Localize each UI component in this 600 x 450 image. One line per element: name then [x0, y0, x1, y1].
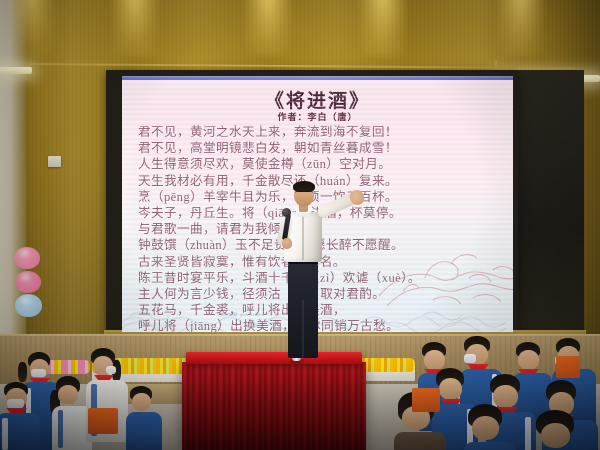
student-head	[132, 393, 151, 411]
student-uniform	[126, 412, 162, 450]
pink-balloon-middle	[15, 271, 41, 293]
speaker-leg-split	[302, 300, 304, 358]
face-mask	[464, 354, 476, 363]
face-mask	[31, 369, 46, 377]
ceiling-downlight-2	[112, 0, 158, 56]
ceiling-downlight-3	[245, 0, 291, 56]
classroom-lecture-photo: 《将进酒》 作者：李白（唐） 君不见，黄河之水天上来，奔流到海不复回！ 君不见，…	[0, 0, 600, 450]
ceiling-downlight-5	[498, 0, 544, 56]
poem-line: 人生得意须尽欢，莫使金樽（zūn）空对月。	[138, 156, 498, 172]
speaker-shirt-placket	[302, 214, 304, 260]
speaker-mic-hand	[282, 238, 292, 249]
student-head	[424, 350, 445, 370]
student-outer-jacket	[394, 432, 446, 450]
slide-author: 作者：李白（唐）	[122, 110, 513, 123]
student-ponytail	[18, 362, 27, 382]
poem-line: 天生我材必有用，千金散尽还（huán）复来。	[138, 173, 498, 189]
student-uniform	[464, 442, 516, 450]
poem-line: 烹（pēng）羊宰牛且为乐，会须一饮三百杯。	[138, 189, 498, 205]
poem-line: 呼儿将（jiāng）出换美酒，与尔同销万古愁。	[138, 318, 498, 332]
student-head	[493, 385, 518, 408]
student-head	[541, 423, 570, 448]
poem-line: 君不见，高堂明镜悲白发，朝如青丝暮成雪！	[138, 140, 498, 156]
poem-line: 主人何为言少钱，径须沽（gū）取对君酌。	[138, 286, 498, 302]
uniform-stripe	[2, 418, 8, 450]
blackboard-right-wing	[514, 70, 584, 332]
student-stool[interactable]	[556, 356, 580, 378]
poem-line: 陈王昔时宴平乐，斗酒十千恣（zì）欢谑（xuè）。	[138, 270, 498, 286]
student-stool[interactable]	[88, 408, 118, 434]
poem-line: 君不见，黄河之水天上来，奔流到海不复回！	[138, 124, 498, 140]
pink-balloon-upper	[14, 247, 40, 269]
face-mask	[106, 366, 116, 374]
glasses-icon	[295, 191, 313, 197]
slide-source-caption: 古诗文网 gushiwen	[218, 312, 265, 318]
screen-top-band	[122, 76, 513, 80]
ceiling-downlight-4	[360, 0, 406, 56]
uniform-stripe	[525, 417, 531, 450]
face-mask	[7, 399, 24, 408]
student-head	[58, 385, 78, 404]
blue-balloon-lower	[15, 294, 42, 317]
wall-switch-left[interactable]	[48, 156, 61, 167]
student-head	[518, 350, 539, 370]
ceiling-downlight-1	[8, 0, 54, 56]
table-skirt-shading	[182, 362, 366, 450]
student-head	[472, 416, 499, 440]
microphone-head-icon[interactable]	[282, 208, 291, 217]
uniform-stripe	[58, 410, 63, 448]
student-stool[interactable]	[412, 388, 440, 412]
fluorescent-tube-left	[0, 67, 32, 74]
slide-title: 《将进酒》	[122, 86, 513, 113]
presentation-table	[186, 352, 362, 364]
poem-line: 五花马，千金裘，呼儿将出换美酒，	[138, 302, 498, 318]
student-head	[439, 378, 462, 400]
